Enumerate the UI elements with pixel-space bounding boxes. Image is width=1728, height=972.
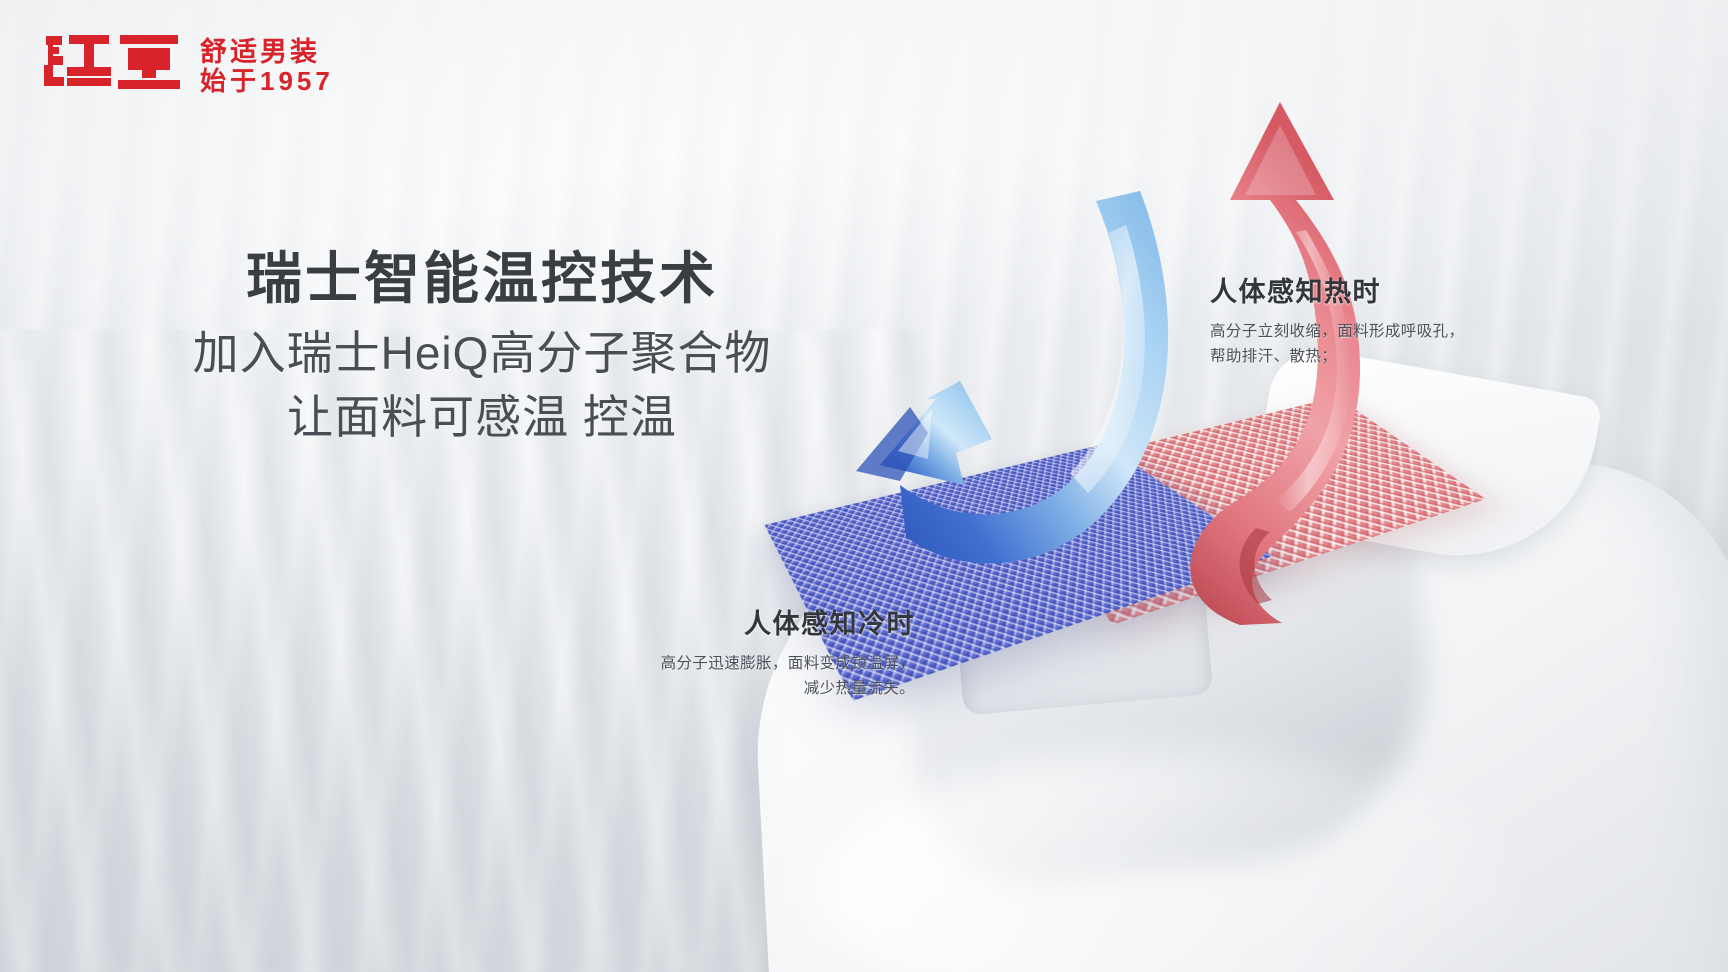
annotation-cold-body: 高分子迅速膨胀，面料变成锁温屏， 减少热量流失。 <box>600 651 915 701</box>
annotation-cold-title: 人体感知冷时 <box>600 608 915 642</box>
blue-down-arrow-icon <box>840 185 1200 575</box>
slogan-line-1: 舒适男装 <box>200 39 334 66</box>
annotation-hot-title: 人体感知热时 <box>1210 276 1520 310</box>
slogan-line-2: 始于1957 <box>200 68 334 94</box>
subtitle-line-1: 加入瑞士HeiQ高分子聚合物 <box>152 322 812 385</box>
subtitle-line-2: 让面料可感温 控温 <box>152 386 812 449</box>
annotation-cold-line-1: 高分子迅速膨胀，面料变成锁温屏， <box>600 651 915 676</box>
headline-block: 瑞士智能温控技术 加入瑞士HeiQ高分子聚合物 让面料可感温 控温 <box>152 246 812 449</box>
annotation-cold: 人体感知冷时 高分子迅速膨胀，面料变成锁温屏， 减少热量流失。 <box>600 608 915 701</box>
annotation-hot-line-1: 高分子立刻收缩，面料形成呼吸孔， <box>1210 319 1520 344</box>
brand-logo[interactable]: 舒适男装 始于1957 <box>42 26 334 96</box>
promo-banner: 舒适男装 始于1957 瑞士智能温控技术 加入瑞士HeiQ高分子聚合物 让面料可… <box>0 0 1728 972</box>
page-title: 瑞士智能温控技术 <box>152 246 812 312</box>
hongdou-logo-icon <box>42 26 187 96</box>
annotation-hot-body: 高分子立刻收缩，面料形成呼吸孔， 帮助排汗、散热； <box>1210 319 1520 369</box>
annotation-hot: 人体感知热时 高分子立刻收缩，面料形成呼吸孔， 帮助排汗、散热； <box>1210 276 1520 369</box>
annotation-cold-line-2: 减少热量流失。 <box>600 676 915 701</box>
brand-slogan: 舒适男装 始于1957 <box>200 39 334 96</box>
annotation-hot-line-2: 帮助排汗、散热； <box>1210 344 1520 369</box>
